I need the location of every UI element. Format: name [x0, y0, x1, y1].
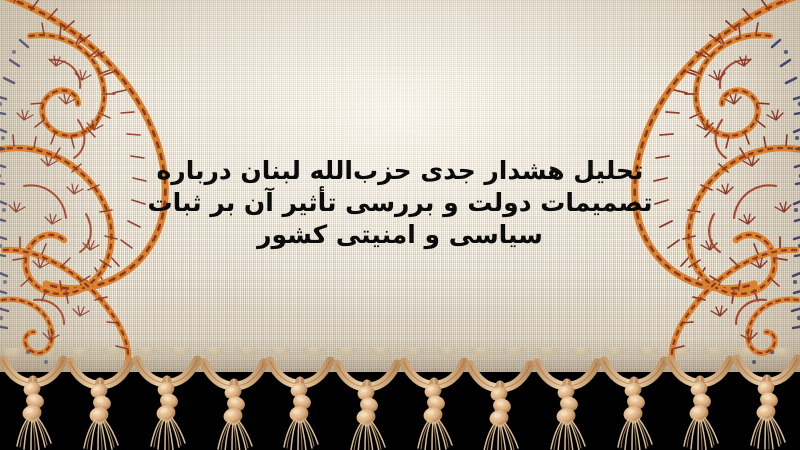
headline-line-3: سیاسی و امنیتی کشور	[0, 219, 800, 251]
title-card-image: تحلیل هشدار جدی حزب‌الله لبنان درباره تص…	[0, 0, 800, 450]
headline-line-1: تحلیل هشدار جدی حزب‌الله لبنان درباره	[0, 155, 800, 187]
tassel-row	[3, 359, 797, 450]
headline-text: تحلیل هشدار جدی حزب‌الله لبنان درباره تص…	[0, 155, 800, 251]
knotted-tassel-fringe-icon	[0, 352, 800, 450]
headline-line-2: تصمیمات دولت و بررسی تأثیر آن بر ثبات	[0, 187, 800, 219]
